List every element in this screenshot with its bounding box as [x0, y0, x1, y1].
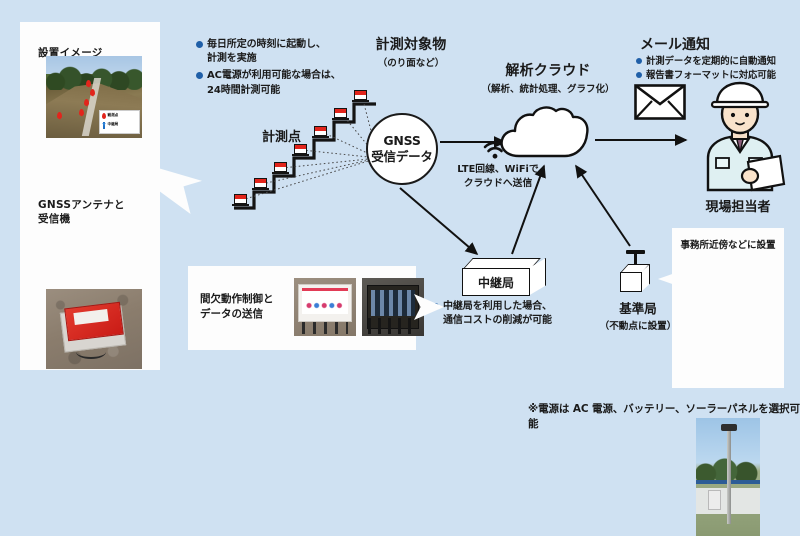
- cloud-heading: 解析クラウド （解析、統計処理、グラフ化）: [478, 60, 618, 95]
- relay-station-label-face: 中継局: [462, 268, 530, 296]
- bullet-item: 計測データを定期的に自動通知: [636, 55, 800, 68]
- relay-station-label: 中継局: [478, 274, 514, 291]
- bullet-text: 中継局を利用した場合、 通信コストの削減が可能: [443, 300, 552, 328]
- analysis-cloud-icon: [497, 104, 591, 160]
- bullet-dot-icon: [636, 58, 642, 64]
- cloud-subtitle: （解析、統計処理、グラフ化）: [478, 81, 618, 95]
- power-source-footnote: ※電源は AC 電源、バッテリー、ソーラーパネルを選択可能: [528, 401, 800, 431]
- site-manager-label: 現場担当者: [672, 196, 800, 215]
- bullet-item: 中継局を利用した場合、 通信コストの削減が可能: [432, 300, 612, 328]
- intermittent-control-panel: 間欠動作制御と データの送信: [188, 266, 416, 350]
- mail-notification-title: メール通知: [640, 34, 710, 54]
- site-manager-illustration: [692, 80, 786, 190]
- cloud-title: 解析クラウド: [478, 60, 618, 80]
- intermittent-control-caption: 間欠動作制御と データの送信: [200, 292, 278, 322]
- controller-wiring-photo: [362, 278, 424, 336]
- base-station-pole-photo: [696, 418, 760, 536]
- base-station-cube-front: [620, 272, 642, 292]
- transmission-note: LTE回線、WiFiで クラウドへ送信: [443, 163, 553, 190]
- envelope-icon: [634, 84, 686, 120]
- base-station-icon: [614, 250, 658, 296]
- office-installation-panel: 事務所近傍などに設置: [672, 228, 784, 388]
- bullet-text: 計測データを定期的に自動通知: [646, 55, 776, 68]
- bullet-dot-icon: [636, 72, 642, 78]
- relay-station-box: 中継局: [462, 258, 546, 298]
- office-installation-caption: 事務所近傍などに設置: [672, 237, 784, 251]
- relay-note-bullet: 中継局を利用した場合、 通信コストの削減が可能: [432, 300, 612, 331]
- controller-enclosure-photo: [294, 278, 356, 336]
